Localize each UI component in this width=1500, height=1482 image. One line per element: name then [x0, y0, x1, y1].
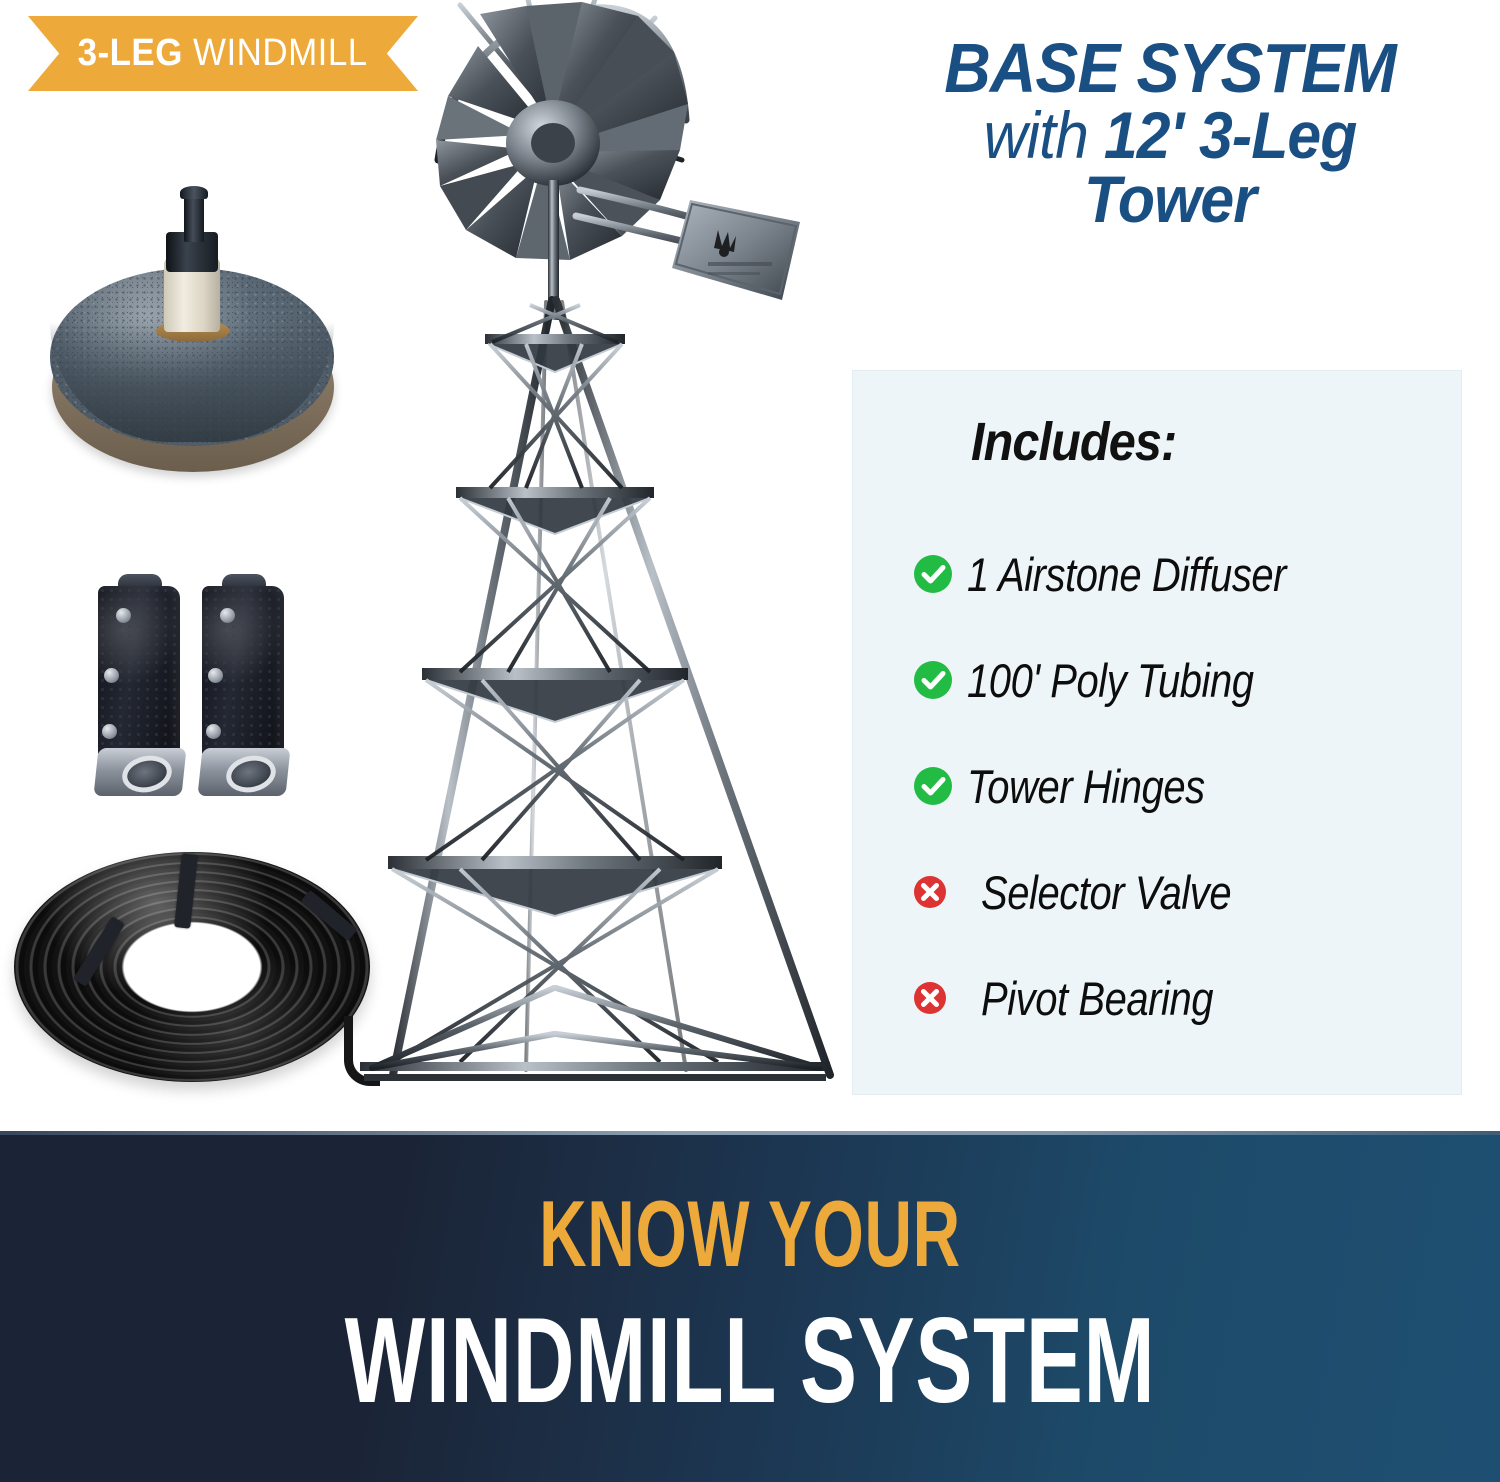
tubing-coil-center [132, 924, 256, 1008]
list-item: 100' Poly Tubing [911, 627, 1451, 733]
includes-panel-title: Includes: [971, 411, 1176, 473]
hinge-bolt [102, 724, 117, 739]
list-item-label: Tower Hinges [967, 759, 1205, 814]
airstone-barb-tip [180, 186, 208, 199]
windmill-tail-vane [672, 200, 800, 300]
hinge-left [92, 572, 188, 804]
x-circle-icon [911, 873, 967, 911]
list-item: Pivot Bearing [911, 945, 1451, 1051]
bottom-banner: KNOW YOUR WINDMILL SYSTEM [0, 1131, 1500, 1482]
hinge-right [196, 572, 292, 804]
tower-base [360, 982, 830, 1081]
list-item: 1 Airstone Diffuser [911, 521, 1451, 627]
hinge-bolt [116, 608, 131, 623]
check-circle-icon [911, 658, 967, 702]
list-item-label: 100' Poly Tubing [967, 653, 1254, 708]
list-item-label: 1 Airstone Diffuser [967, 547, 1286, 602]
ribbon-bold-text: 3-LEG [78, 32, 183, 74]
list-item: Tower Hinges [911, 733, 1451, 839]
title-line-2: with 12' 3-Leg [885, 103, 1455, 168]
tower-hinges-photo [92, 572, 308, 804]
bottom-banner-text: KNOW YOUR WINDMILL SYSTEM [0, 1187, 1500, 1421]
poly-tubing-coil-photo [14, 852, 370, 1104]
check-circle-icon [911, 764, 967, 808]
windmill-hub-center [531, 123, 575, 163]
airstone-diffuser-photo [34, 182, 350, 492]
x-circle-icon [911, 979, 967, 1017]
hinge-bolt [206, 724, 221, 739]
hinge-bolt [104, 668, 119, 683]
list-item-label: Selector Valve [981, 865, 1231, 920]
title-line-2-bold: 12' 3-Leg [1104, 98, 1357, 172]
windmill-tower-photo [330, 0, 890, 1105]
infographic-page: 3-LEG WINDMILL BASE SYSTEM with 12' 3-Le… [0, 0, 1500, 1482]
includes-list: 1 Airstone Diffuser 100' Poly Tubing [911, 521, 1451, 1051]
check-circle-icon [911, 552, 967, 596]
hinge-bolt [208, 668, 223, 683]
banner-mainline: WINDMILL SYSTEM [225, 1299, 1275, 1421]
banner-kicker: KNOW YOUR [225, 1187, 1275, 1281]
list-item-label: Pivot Bearing [981, 971, 1213, 1026]
ribbon-label: 3-LEG WINDMILL [78, 32, 368, 75]
page-title: BASE SYSTEM with 12' 3-Leg Tower [885, 34, 1455, 232]
title-line-2-light: with [984, 98, 1104, 172]
list-item: Selector Valve [911, 839, 1451, 945]
title-line-3: Tower [885, 167, 1455, 232]
includes-panel: Includes: 1 Airstone Diffuser [852, 370, 1462, 1095]
hinge-bolt [220, 608, 235, 623]
title-line-1: BASE SYSTEM [885, 34, 1455, 103]
